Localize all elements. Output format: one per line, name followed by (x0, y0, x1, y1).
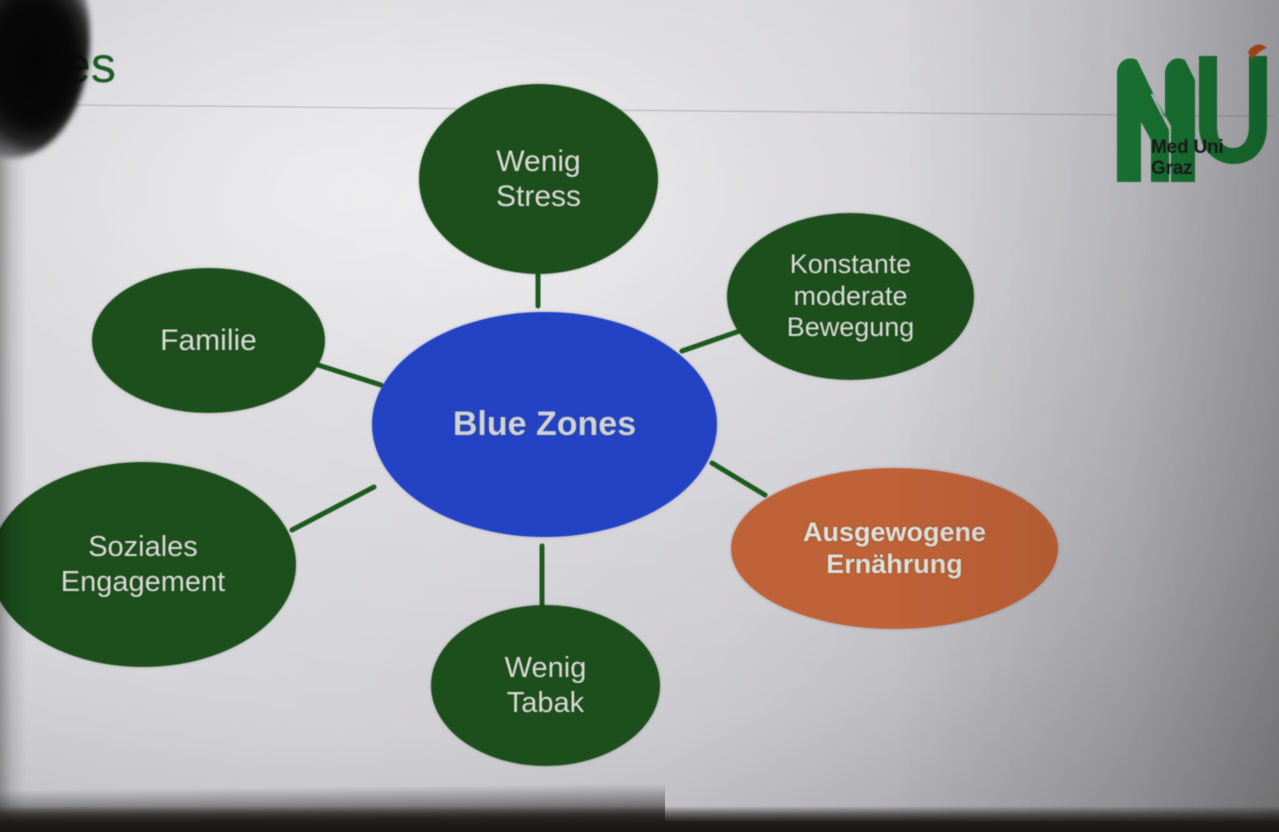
node-soziales-engagement[interactable]: Soziales Engagement (0, 462, 296, 667)
node-konstante-bewegung[interactable]: Konstante moderate Bewegung (727, 213, 974, 380)
node-blue-zones-label: Blue Zones (447, 404, 642, 444)
node-ausgewogene-ernaehrung-label: Ausgewogene Ernährung (797, 517, 992, 581)
projected-slide-photo: e Zones Med Uni Graz (0, 0, 1279, 832)
node-soziales-engagement-label: Soziales Engagement (55, 530, 231, 598)
node-familie-label: Familie (154, 323, 263, 358)
connector-center-to-soziales (292, 487, 374, 530)
node-familie[interactable]: Familie (92, 268, 325, 413)
connector-center-to-ernaehrung (712, 463, 765, 495)
connector-center-to-familie (318, 365, 381, 385)
logo-wordmark-line1: Med Uni (1151, 138, 1224, 159)
node-wenig-tabak-label: Wenig Tabak (499, 651, 593, 719)
bottom-screen-edge (0, 806, 1279, 832)
node-blue-zones-center[interactable]: Blue Zones (372, 312, 717, 537)
title-divider (28, 104, 1273, 117)
node-wenig-tabak[interactable]: Wenig Tabak (431, 605, 660, 766)
node-wenig-stress-label: Wenig Stress (490, 144, 587, 215)
node-ausgewogene-ernaehrung[interactable]: Ausgewogene Ernährung (731, 468, 1058, 629)
node-wenig-stress[interactable]: Wenig Stress (419, 84, 658, 274)
med-uni-graz-logo: Med Uni Graz (1103, 22, 1271, 192)
node-konstante-bewegung-label: Konstante moderate Bewegung (781, 249, 921, 345)
logo-wordmark: Med Uni Graz (1151, 138, 1224, 179)
logo-wordmark-line2: Graz (1151, 159, 1224, 180)
